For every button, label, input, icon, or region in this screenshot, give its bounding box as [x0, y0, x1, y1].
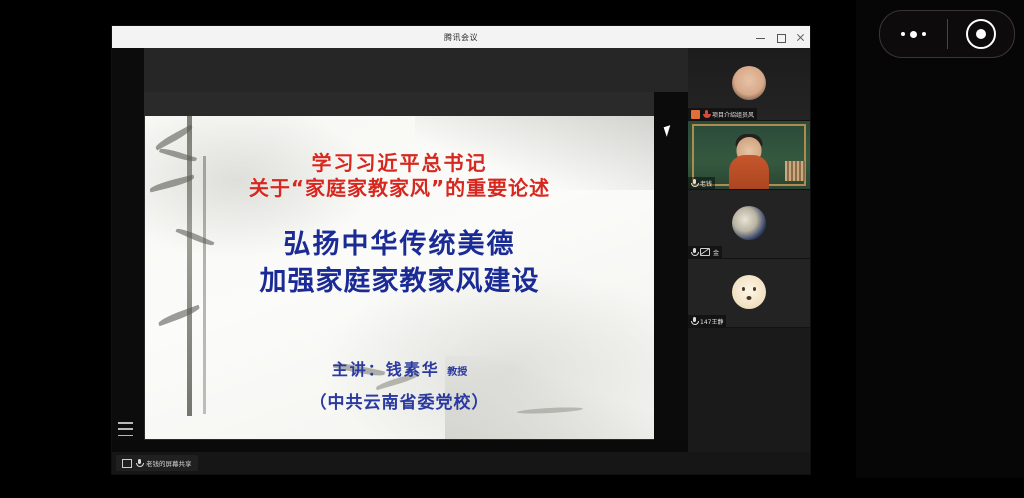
participant-rail: 项目介绍组员风 老钱 — [688, 48, 810, 452]
camera-off-icon — [700, 248, 710, 256]
screen-capture: 腾讯会议 — [0, 0, 1024, 498]
slide-presenter-title: 教授 — [447, 367, 467, 378]
participant-name: 项目介绍组员风 — [712, 110, 754, 119]
participant-tile[interactable]: 项目介绍组员风 — [688, 48, 810, 121]
record-icon — [966, 19, 996, 49]
more-options-button[interactable] — [880, 11, 947, 57]
maximize-button[interactable] — [775, 32, 786, 43]
avatar — [732, 66, 766, 100]
more-dots-icon — [901, 31, 926, 38]
microphone-icon — [136, 459, 142, 467]
participant-name: 147王静 — [700, 317, 723, 326]
participant-nameplate: 项目介绍组员风 — [688, 108, 757, 120]
screen-share-label: 老钱的屏幕共享 — [146, 458, 192, 468]
shared-screen-left-strip — [112, 48, 144, 452]
window-body: 学习习近平总书记 关于“家庭家教家风”的重要论述 弘扬中华传统美德 加强家庭家教… — [112, 48, 810, 474]
shared-screen-bottom-strip — [112, 440, 688, 452]
shared-screen-top-bar — [123, 48, 688, 92]
participant-name: 金 — [713, 248, 719, 257]
shared-screen-right-strip — [654, 92, 688, 452]
slide-menu-icon[interactable] — [118, 420, 133, 438]
participant-tile[interactable]: 金 — [688, 190, 810, 259]
slide-affiliation: （中共云南省委党校） — [145, 388, 654, 413]
participant-name: 老钱 — [700, 179, 712, 188]
monitor-icon — [122, 459, 132, 468]
microphone-icon — [691, 179, 697, 187]
host-badge-icon — [691, 110, 700, 119]
record-button[interactable] — [948, 11, 1015, 57]
tencent-meeting-window: 腾讯会议 — [112, 26, 810, 474]
window-titlebar: 腾讯会议 — [112, 26, 810, 48]
minimize-button[interactable] — [755, 32, 766, 43]
slide-red-heading-line2: 关于“家庭家教家风”的重要论述 — [145, 172, 654, 201]
microphone-muted-icon — [703, 110, 709, 118]
participant-nameplate: 147王静 — [688, 315, 726, 327]
letterbox-bottom — [0, 478, 1024, 498]
avatar-body — [729, 155, 769, 190]
avatar — [732, 206, 766, 240]
microphone-icon — [691, 317, 697, 325]
participant-nameplate: 老钱 — [688, 177, 715, 189]
slide-presenter: 主讲：钱素华 教授 — [145, 356, 654, 380]
presentation-slide[interactable]: 学习习近平总书记 关于“家庭家教家风”的重要论述 弘扬中华传统美德 加强家庭家教… — [145, 116, 654, 439]
slide-presenter-name: 主讲：钱素华 — [332, 360, 440, 379]
bamboo-leaf-icon — [157, 305, 201, 327]
bookshelf-icon — [785, 161, 805, 181]
app-title: 腾讯会议 — [444, 32, 478, 43]
letterbox-right — [856, 0, 1024, 498]
microphone-icon — [691, 248, 697, 256]
window-controls — [755, 26, 806, 48]
floating-control-pill — [879, 10, 1015, 58]
avatar — [732, 275, 766, 309]
window-statusbar: 老钱的屏幕共享 — [112, 452, 810, 474]
slide-main-title-line2: 加强家庭家教家风建设 — [145, 259, 654, 298]
screen-share-indicator[interactable]: 老钱的屏幕共享 — [116, 455, 198, 471]
participant-nameplate: 金 — [688, 246, 722, 258]
participant-tile[interactable]: 147王静 — [688, 259, 810, 328]
shared-screen-area[interactable]: 学习习近平总书记 关于“家庭家教家风”的重要论述 弘扬中华传统美德 加强家庭家教… — [112, 48, 688, 452]
close-button[interactable] — [795, 32, 806, 43]
slide-main-title-line1: 弘扬中华传统美德 — [145, 222, 654, 261]
participant-tile[interactable]: 老钱 — [688, 121, 810, 190]
